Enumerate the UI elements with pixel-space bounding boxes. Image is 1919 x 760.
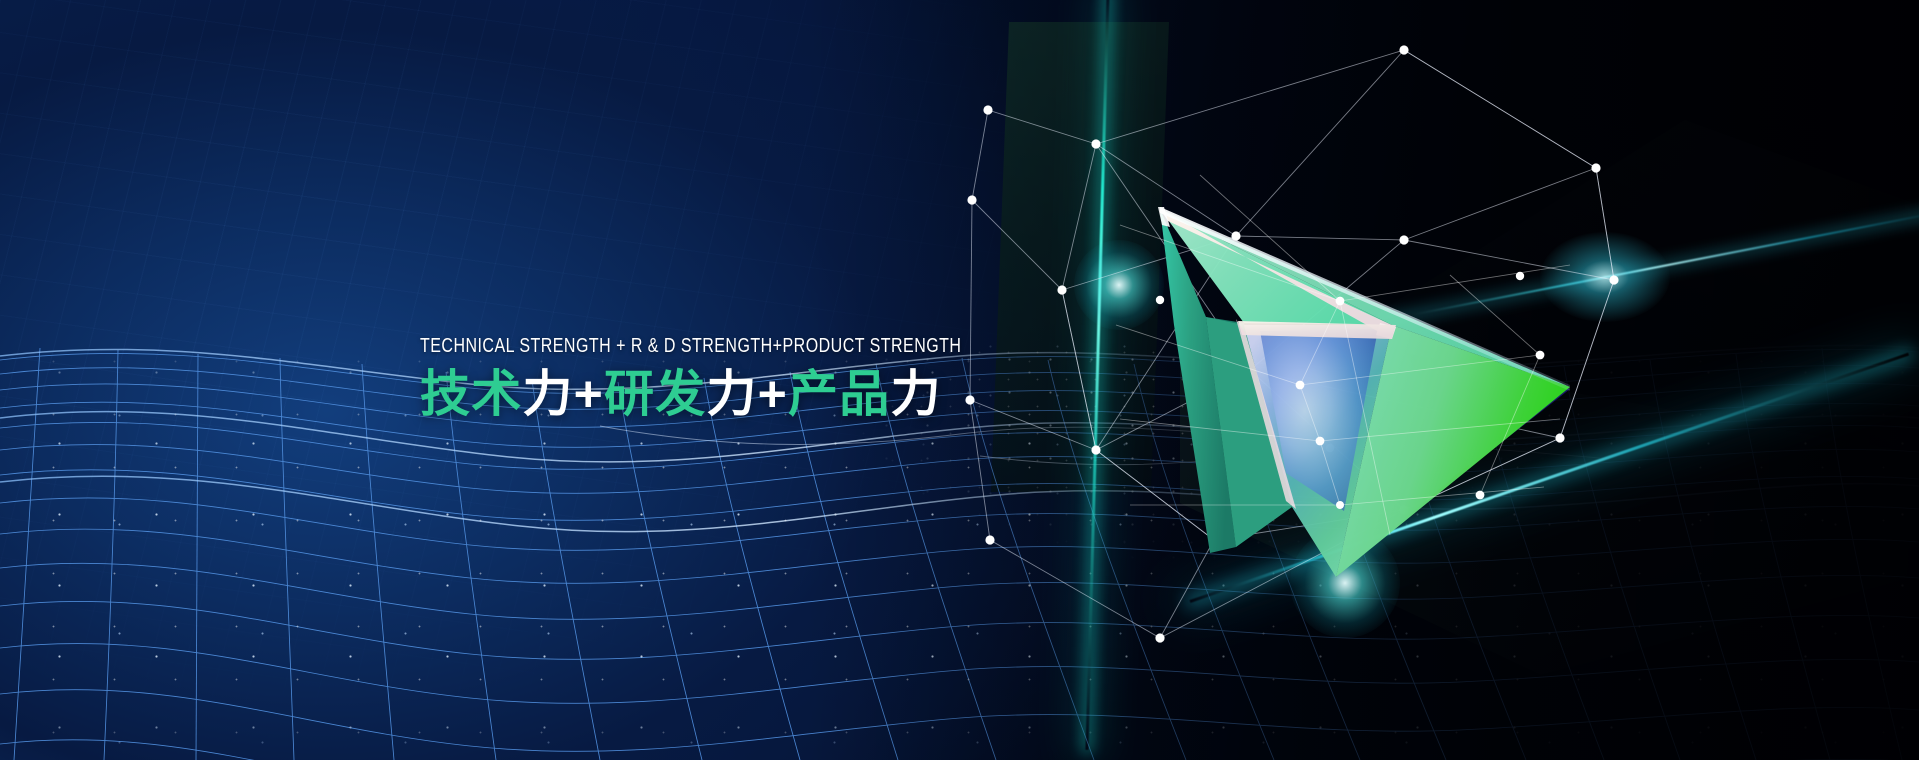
headline-segment-li-1: 力 xyxy=(522,366,573,422)
arrow-svg xyxy=(1140,205,1570,605)
headline-segment-jishu: 技术 xyxy=(420,366,522,422)
headline-segment-chanpin: 产品 xyxy=(788,366,890,422)
headline-plus-2: + xyxy=(758,366,788,422)
headline-plus-1: + xyxy=(574,366,604,422)
headline-text-block: TECHNICAL STRENGTH + R & D STRENGTH+PROD… xyxy=(420,336,1060,422)
headline-segment-li-2: 力 xyxy=(706,366,757,422)
eyebrow-english-tagline: TECHNICAL STRENGTH + R & D STRENGTH+PROD… xyxy=(420,336,932,357)
headline-segment-yanfa: 研发 xyxy=(604,366,706,422)
3d-arrow-graphic xyxy=(1140,205,1570,605)
headline-chinese: 技术力+研发力+产品力 xyxy=(420,366,1060,422)
headline-segment-li-3: 力 xyxy=(890,366,941,422)
hero-banner: TECHNICAL STRENGTH + R & D STRENGTH+PROD… xyxy=(0,0,1919,760)
